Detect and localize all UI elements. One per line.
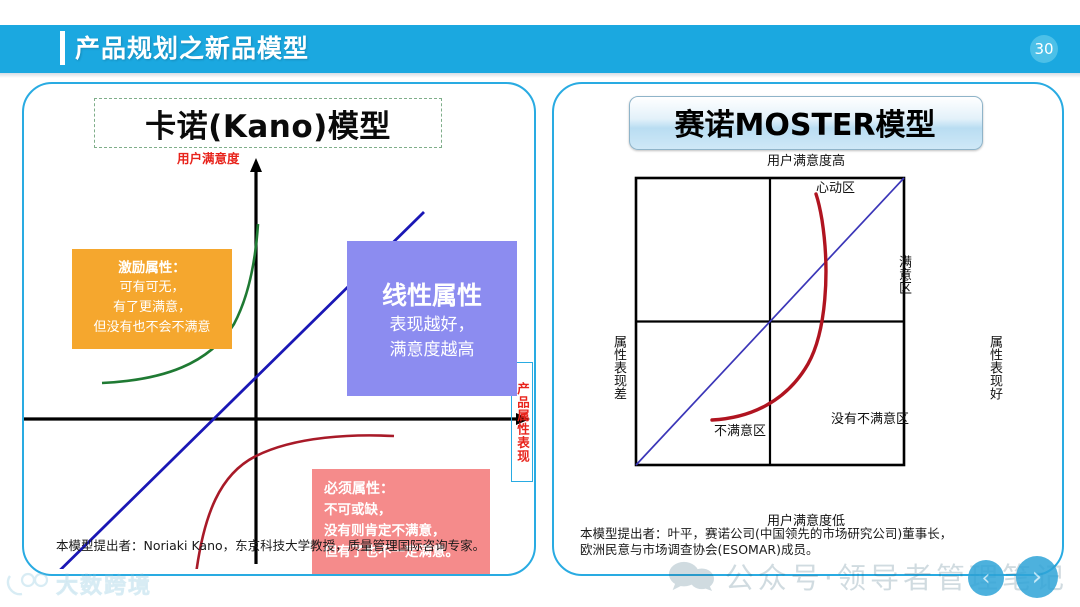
- watermark-right: 公众号·领导者管理笔记: [668, 556, 1068, 596]
- moster-footer-line1: 本模型提出者：叶平，赛诺公司(中国领先的市场研究公司)董事长，: [580, 526, 1040, 542]
- next-slide-button[interactable]: ›: [1016, 556, 1058, 598]
- kano-title: 卡诺(Kano)模型: [94, 98, 442, 148]
- kano-attractive-heading: 激励属性：: [72, 258, 232, 278]
- prev-slide-button[interactable]: ‹: [968, 560, 1004, 596]
- kano-must-box: 必须属性： 不可或缺， 没有则肯定不满意， 但有了也不一定满意。: [312, 469, 490, 574]
- kano-chart: 用户满意度 产品属性表现 激励属性： 可有可无， 有了更满意， 但没有也不会不满…: [24, 144, 530, 569]
- kano-attractive-line3: 但没有也不会不满意: [72, 318, 232, 338]
- moster-footer-note: 本模型提出者：叶平，赛诺公司(中国领先的市场研究公司)董事长， 欧洲民意与市场调…: [580, 526, 1040, 558]
- kano-model-panel: 卡诺(Kano)模型 用户满意度 产品属性表现 激励属性： 可有可无， 有了更满…: [22, 82, 536, 576]
- moster-model-panel: 赛诺MOSTER模型 用户满意度高 属性表现差 属性表现好 心动区 满意区 不满…: [552, 82, 1064, 576]
- kano-performance-line2: 满意度越高: [347, 338, 517, 363]
- watermark-left-text: 大数跨境: [56, 568, 152, 600]
- kano-performance-heading: 线性属性: [347, 279, 517, 313]
- moster-left-label: 属性表现差: [610, 335, 626, 400]
- moster-quadrant-no-dissatisfied: 没有不满意区: [831, 408, 909, 427]
- dashukuajing-logo-icon: [6, 570, 50, 598]
- watermark-left: 大数跨境: [6, 566, 196, 602]
- moster-chart-svg: [554, 150, 1058, 570]
- moster-right-label: 属性表现好: [986, 335, 1002, 400]
- app-header: 产品规划之新品模型 30: [0, 25, 1080, 73]
- kano-performance-box: 线性属性 表现越好， 满意度越高: [347, 241, 517, 396]
- moster-quadrant-dissatisfied: 不满意区: [714, 420, 766, 439]
- moster-quadrant-heart: 心动区: [816, 177, 855, 196]
- moster-quadrant-satisfied: 满意区: [895, 255, 911, 294]
- moster-title: 赛诺MOSTER模型: [629, 96, 981, 148]
- moster-chart: 用户满意度高 属性表现差 属性表现好 心动区 满意区 不满意区 没有不满意区 用…: [554, 150, 1058, 570]
- kano-performance-line1: 表现越好，: [347, 313, 517, 338]
- wechat-bubble-icon: [668, 559, 717, 593]
- kano-attractive-line1: 可有可无，: [72, 278, 232, 298]
- page-number-badge: 30: [1030, 35, 1058, 63]
- kano-must-line1: 不可或缺，: [324, 500, 490, 521]
- header-shadow: [0, 73, 1080, 78]
- kano-attractive-line2: 有了更满意，: [72, 298, 232, 318]
- header-accent-bar: [60, 31, 65, 65]
- kano-attractive-box: 激励属性： 可有可无， 有了更满意， 但没有也不会不满意: [72, 249, 232, 349]
- kano-footer-note: 本模型提出者：Noriaki Kano，东京科技大学教授，质量管理国际咨询专家。: [56, 537, 506, 554]
- kano-must-heading: 必须属性：: [324, 479, 490, 500]
- page-title: 产品规划之新品模型: [75, 33, 309, 65]
- kano-y-axis-arrow: [250, 158, 262, 172]
